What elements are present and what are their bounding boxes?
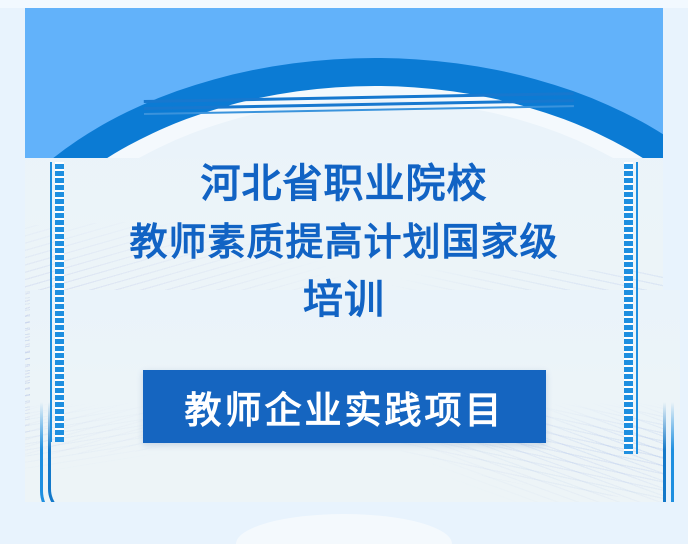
- title-line-3: 培训: [60, 271, 628, 329]
- page-margin-left: [0, 0, 25, 544]
- subtitle-banner-label: 教师企业实践项目: [185, 380, 505, 434]
- page-title: 河北省职业院校 教师素质提高计划国家级 培训: [60, 155, 628, 329]
- page-bottom-margin: [0, 502, 688, 544]
- title-line-1: 河北省职业院校: [60, 155, 628, 213]
- subtitle-banner: 教师企业实践项目: [143, 370, 546, 443]
- page-margin-right: [663, 0, 688, 544]
- poster-root: 河北省职业院校 教师素质提高计划国家级 培训 教师企业实践项目: [0, 0, 688, 544]
- rail-line-right: [636, 162, 638, 454]
- title-line-2: 教师素质提高计划国家级: [60, 213, 628, 271]
- header-band: [25, 8, 663, 158]
- page-margin-top: [0, 0, 688, 8]
- rail-line-left: [50, 162, 52, 442]
- bottom-notch-icon: [236, 514, 452, 544]
